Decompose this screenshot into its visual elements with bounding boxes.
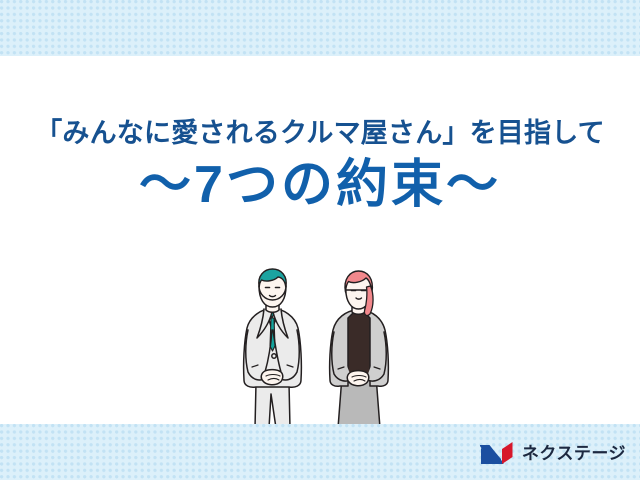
nextage-n-mark-icon [479, 440, 515, 466]
top-dotted-band [0, 0, 640, 56]
brand-name-label: ネクステージ [522, 445, 626, 462]
headline-block: 「みんなに愛されるクルマ屋さん」を目指して ～7つの約束～ [0, 118, 640, 213]
staff-illustration-svg [238, 268, 414, 428]
female-staff-figure [330, 271, 389, 428]
staff-illustration [238, 268, 414, 428]
headline-secondary: ～7つの約束～ [0, 158, 640, 213]
brand-logo: ネクステージ [479, 440, 626, 466]
promo-banner: 「みんなに愛されるクルマ屋さん」を目指して ～7つの約束～ [0, 0, 640, 480]
headline-primary: 「みんなに愛されるクルマ屋さん」を目指して [0, 118, 640, 148]
male-staff-figure [244, 269, 302, 428]
